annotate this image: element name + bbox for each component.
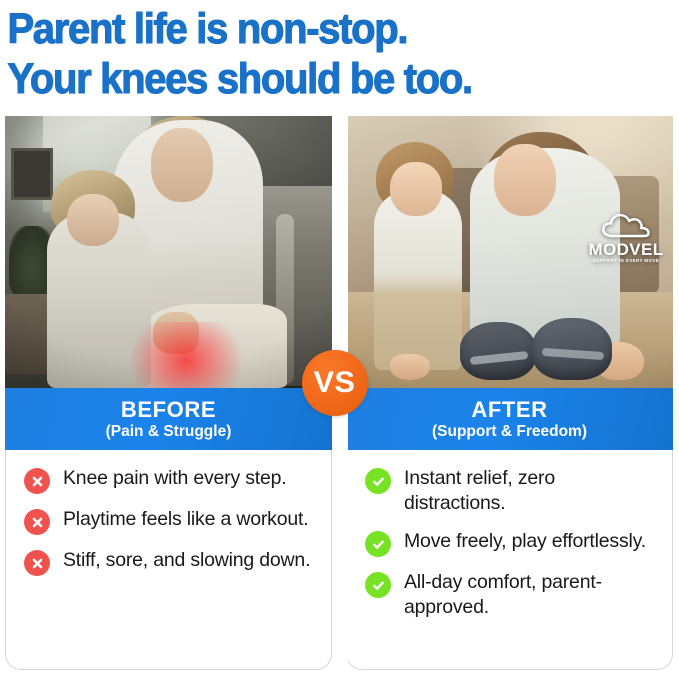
check-icon xyxy=(365,572,391,598)
list-item-label: All-day comfort, parent-approved. xyxy=(404,570,660,620)
cloud-icon xyxy=(601,212,651,239)
before-banner-subtitle: (Pain & Struggle) xyxy=(106,422,232,442)
list-item-label: Playtime feels like a workout. xyxy=(63,507,308,532)
list-item: All-day comfort, parent-approved. xyxy=(359,570,660,620)
x-icon xyxy=(24,550,50,576)
brand-tagline: SUPPORT IN EVERY MOVE xyxy=(587,259,665,263)
after-photo: MODVEL SUPPORT IN EVERY MOVE xyxy=(346,116,673,388)
panel-before: BEFORE (Pain & Struggle) Knee pain with … xyxy=(5,116,332,670)
x-icon xyxy=(24,509,50,535)
after-banner: AFTER (Support & Freedom) xyxy=(346,388,673,450)
list-item: Knee pain with every step. xyxy=(18,466,319,494)
list-item: Instant relief, zero distractions. xyxy=(359,466,660,516)
list-item-label: Stiff, sore, and slowing down. xyxy=(63,548,310,573)
brand-name: MODVEL xyxy=(587,241,665,258)
list-item: Playtime feels like a workout. xyxy=(18,507,319,535)
after-benefit-list: Instant relief, zero distractions. Move … xyxy=(346,450,673,670)
before-benefit-list: Knee pain with every step. Playtime feel… xyxy=(5,450,332,670)
before-banner-title: BEFORE xyxy=(121,397,216,422)
modvel-logo: MODVEL SUPPORT IN EVERY MOVE xyxy=(587,212,665,263)
list-item-label: Instant relief, zero distractions. xyxy=(404,466,660,516)
list-item-label: Move freely, play effortlessly. xyxy=(404,529,646,554)
panel-after: MODVEL SUPPORT IN EVERY MOVE AFTER (Supp… xyxy=(346,116,673,670)
vs-badge-label: VS xyxy=(314,366,356,400)
x-icon xyxy=(24,468,50,494)
page-headline: Parent life is non-stop. Your knees shou… xyxy=(0,0,631,104)
vs-badge: VS xyxy=(302,350,368,416)
list-item: Move freely, play effortlessly. xyxy=(359,529,660,557)
check-icon xyxy=(365,531,391,557)
headline-line-1: Parent life is non-stop. xyxy=(7,4,624,54)
before-photo xyxy=(5,116,332,388)
headline-line-2: Your knees should be too. xyxy=(7,54,624,104)
photo-vignette xyxy=(5,116,332,388)
after-banner-subtitle: (Support & Freedom) xyxy=(432,422,587,442)
list-item-label: Knee pain with every step. xyxy=(63,466,287,491)
check-icon xyxy=(365,468,391,494)
before-banner: BEFORE (Pain & Struggle) xyxy=(5,388,332,450)
after-banner-title: AFTER xyxy=(471,397,547,422)
list-item: Stiff, sore, and slowing down. xyxy=(18,548,319,576)
